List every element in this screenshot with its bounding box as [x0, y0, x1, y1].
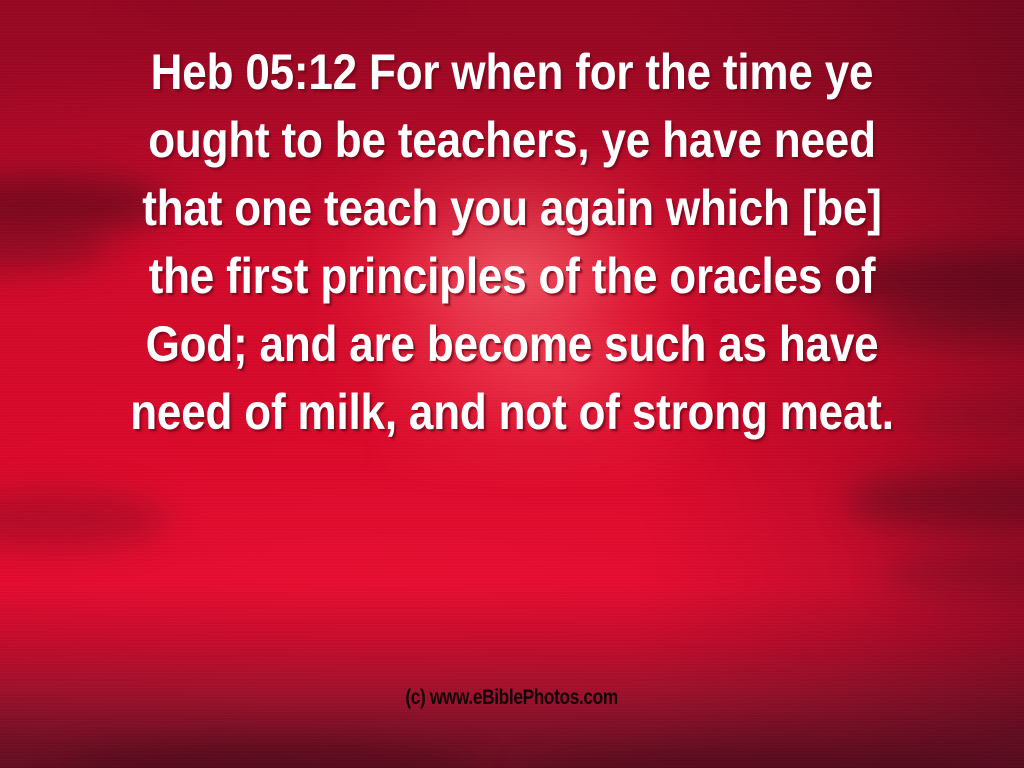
verse-line: the first principles of the oracles of: [61, 242, 962, 310]
copyright-credit: (c) www.eBiblePhotos.com: [0, 686, 1024, 710]
verse-text-block: Heb 05:12 For when for the time ye ought…: [0, 38, 1024, 446]
verse-line: Heb 05:12 For when for the time ye: [61, 38, 962, 106]
verse-line: that one teach you again which [be]: [61, 174, 962, 242]
verse-line: God; and are become such as have: [61, 310, 962, 378]
verse-line: need of milk, and not of strong meat.: [61, 378, 962, 446]
verse-image-canvas: Heb 05:12 For when for the time ye ought…: [0, 0, 1024, 768]
verse-line: ought to be teachers, ye have need: [61, 106, 962, 174]
copyright-credit-label: (c) www.eBiblePhotos.com: [406, 686, 619, 710]
